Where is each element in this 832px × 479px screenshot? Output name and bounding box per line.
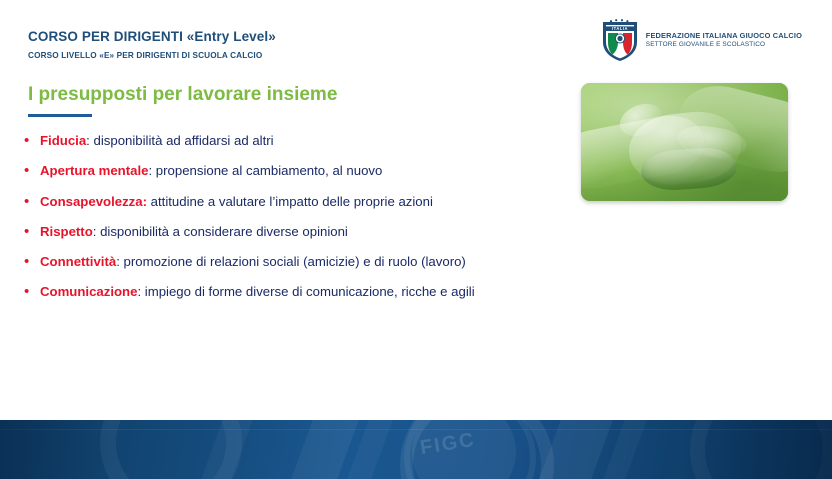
list-item: • Rispetto: disponibilità a considerare … xyxy=(24,224,584,254)
list-item-desc: : disponibilità ad affidarsi ad altri xyxy=(86,133,273,148)
banner-left-shade xyxy=(0,420,110,479)
bullet-dot-icon: • xyxy=(24,133,40,148)
slide-header: CORSO PER DIRIGENTI «Entry Level» CORSO … xyxy=(0,0,832,70)
footer-banner-pattern: FIGC xyxy=(0,420,832,479)
figc-logo: ITALIA FEDERAZIONE ITALIANA GIUOCO CALCI… xyxy=(601,18,802,62)
list-item: • Consapevolezza: attitudine a valutare … xyxy=(24,194,584,224)
bullet-list: • Fiducia: disponibilità ad affidarsi ad… xyxy=(24,133,584,315)
bullet-dot-icon: • xyxy=(24,194,40,209)
list-item-term: Apertura mentale xyxy=(40,163,148,178)
list-item-desc: : promozione di relazioni sociali (amici… xyxy=(116,254,466,269)
footer-banner: FIGC xyxy=(0,420,832,479)
banner-right-shade xyxy=(682,420,832,479)
bullet-dot-icon: • xyxy=(24,254,40,269)
figc-name-line1: FEDERAZIONE ITALIANA GIUOCO CALCIO xyxy=(646,31,802,40)
course-subtitle: CORSO LIVELLO «E» PER DIRIGENTI DI SCUOL… xyxy=(28,51,262,60)
list-item-text: Apertura mentale: propensione al cambiam… xyxy=(40,164,382,177)
list-item: • Fiducia: disponibilità ad affidarsi ad… xyxy=(24,133,584,163)
list-item-text: Comunicazione: impiego di forme diverse … xyxy=(40,285,475,298)
list-item: • Apertura mentale: propensione al cambi… xyxy=(24,163,584,193)
svg-text:ITALIA: ITALIA xyxy=(612,26,628,31)
list-item-term: Comunicazione xyxy=(40,284,137,299)
list-item-term: Consapevolezza: xyxy=(40,194,147,209)
list-item-desc: : propensione al cambiamento, al nuovo xyxy=(148,163,382,178)
course-title: CORSO PER DIRIGENTI «Entry Level» xyxy=(28,29,276,44)
handshake-image xyxy=(581,83,788,201)
figc-shield-icon: ITALIA xyxy=(601,18,639,62)
list-item-text: Connettività: promozione di relazioni so… xyxy=(40,255,466,268)
bullet-dot-icon: • xyxy=(24,224,40,239)
figc-name-line2: SETTORE GIOVANILE E SCOLASTICO xyxy=(646,41,802,49)
figc-wordmark: FEDERAZIONE ITALIANA GIUOCO CALCIO SETTO… xyxy=(646,31,802,48)
list-item-desc: : impiego di forme diverse di comunicazi… xyxy=(137,284,474,299)
handshake-photo-art xyxy=(581,83,788,201)
list-item-text: Fiducia: disponibilità ad affidarsi ad a… xyxy=(40,134,274,147)
bullet-dot-icon: • xyxy=(24,163,40,178)
handshake-bottom-shading xyxy=(581,169,788,201)
list-item-term: Connettività xyxy=(40,254,116,269)
heading-underline-rule xyxy=(28,114,92,117)
list-item-text: Rispetto: disponibilità a considerare di… xyxy=(40,225,348,238)
list-item: • Connettività: promozione di relazioni … xyxy=(24,254,584,284)
list-item-desc: attitudine a valutare l’impatto delle pr… xyxy=(147,194,433,209)
list-item-term: Rispetto xyxy=(40,224,93,239)
bullet-dot-icon: • xyxy=(24,284,40,299)
list-item-text: Consapevolezza: attitudine a valutare l’… xyxy=(40,195,433,208)
list-item: • Comunicazione: impiego di forme divers… xyxy=(24,284,584,314)
list-item-term: Fiducia xyxy=(40,133,86,148)
list-item-desc: : disponibilità a considerare diverse op… xyxy=(93,224,348,239)
page-title: I presupposti per lavorare insieme xyxy=(28,84,337,106)
